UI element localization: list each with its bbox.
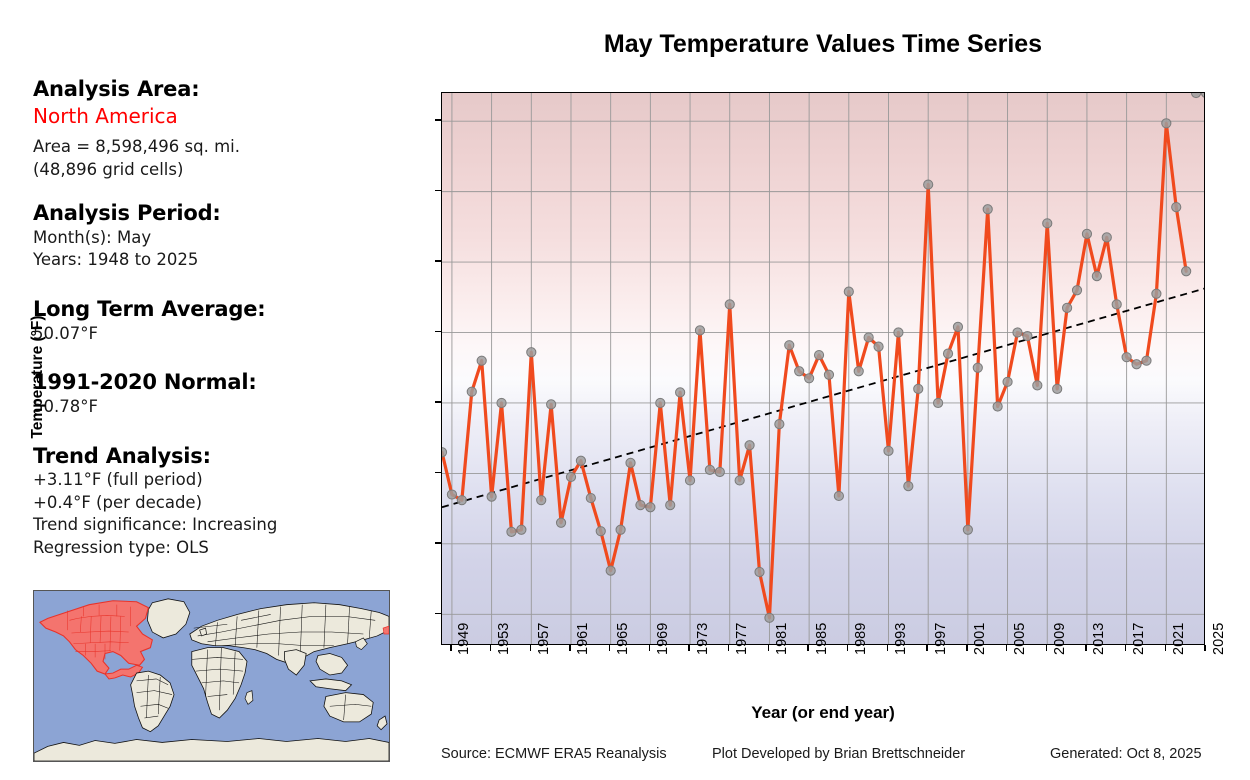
x-tick-mark (966, 645, 967, 651)
data-point (547, 400, 556, 409)
x-tick-mark (887, 645, 888, 651)
data-point (616, 525, 625, 534)
data-point (973, 363, 982, 372)
x-tick-mark (649, 645, 650, 651)
data-point (477, 356, 486, 365)
data-point (527, 348, 536, 357)
x-tick-label: 1993 (893, 623, 909, 655)
x-tick-label: 2005 (1012, 623, 1028, 655)
data-point (934, 398, 943, 407)
data-point-markers (442, 93, 1205, 622)
data-point (507, 527, 516, 536)
y-tick-mark (435, 331, 441, 332)
data-point (1072, 286, 1081, 295)
data-point (1112, 300, 1121, 309)
data-point (586, 493, 595, 502)
data-point (676, 388, 685, 397)
data-point (785, 341, 794, 350)
y-tick-mark (435, 260, 441, 261)
chart-title: May Temperature Values Time Series (441, 30, 1205, 59)
data-point (457, 496, 466, 505)
data-point (844, 287, 853, 296)
x-tick-mark (688, 645, 689, 651)
data-point (626, 458, 635, 467)
x-tick-label: 2001 (972, 623, 988, 655)
x-tick-mark (1006, 645, 1007, 651)
data-point (1062, 303, 1071, 312)
x-axis-label: Year (or end year) (441, 703, 1205, 723)
x-tick-label: 1961 (575, 623, 591, 655)
x-tick-mark (450, 645, 451, 651)
x-tick-mark (490, 645, 491, 651)
data-point (596, 527, 605, 536)
data-point (1132, 360, 1141, 369)
x-tick-label: 1965 (615, 623, 631, 655)
data-point (963, 525, 972, 534)
data-point (487, 492, 496, 501)
data-point (745, 441, 754, 450)
y-tick-mark (435, 401, 441, 402)
data-point (1182, 267, 1191, 276)
plot-svg (442, 93, 1205, 645)
x-tick-label: 2025 (1211, 623, 1227, 655)
data-point (725, 300, 734, 309)
data-point (1003, 377, 1012, 386)
data-point (576, 456, 585, 465)
data-point (1162, 119, 1171, 128)
data-point (1201, 93, 1205, 98)
y-tick-mark (435, 119, 441, 120)
data-point (517, 525, 526, 534)
data-point (1142, 356, 1151, 365)
data-point (566, 472, 575, 481)
data-point (646, 503, 655, 512)
x-tick-mark (569, 645, 570, 651)
x-tick-mark (609, 645, 610, 651)
x-tick-label: 1969 (655, 623, 671, 655)
data-point (755, 567, 764, 576)
plot-area (441, 92, 1205, 645)
data-point (705, 465, 714, 474)
data-point (606, 566, 615, 575)
data-point (924, 180, 933, 189)
x-tick-label: 1973 (695, 623, 711, 655)
time-series-chart: May Temperature Values Time Series Tempe… (0, 0, 1250, 780)
x-tick-mark (1204, 645, 1205, 651)
data-point (854, 367, 863, 376)
data-point (824, 370, 833, 379)
data-point (983, 205, 992, 214)
data-point (874, 342, 883, 351)
gridlines (442, 93, 1205, 645)
footer-generated: Generated: Oct 8, 2025 (1050, 746, 1202, 762)
y-tick-mark (435, 613, 441, 614)
data-point (1053, 384, 1062, 393)
x-tick-label: 1981 (774, 623, 790, 655)
data-point (695, 326, 704, 335)
x-tick-label: 2017 (1131, 623, 1147, 655)
x-tick-label: 1985 (814, 623, 830, 655)
data-point (1082, 229, 1091, 238)
x-tick-label: 2009 (1052, 623, 1068, 655)
data-point (447, 490, 456, 499)
data-point (1043, 219, 1052, 228)
data-point (636, 501, 645, 510)
x-tick-mark (1046, 645, 1047, 651)
data-point (442, 448, 447, 457)
data-point (904, 481, 913, 490)
x-tick-mark (847, 645, 848, 651)
x-tick-mark (1085, 645, 1086, 651)
data-point (735, 476, 744, 485)
data-point (666, 501, 675, 510)
y-axis-label: Temperature (°F) (29, 277, 47, 477)
x-tick-label: 2021 (1171, 623, 1187, 655)
y-tick-mark (435, 542, 441, 543)
x-tick-mark (1165, 645, 1166, 651)
data-point (556, 518, 565, 527)
data-point (894, 328, 903, 337)
data-point (1013, 328, 1022, 337)
data-point (1023, 331, 1032, 340)
data-point (765, 613, 774, 622)
x-tick-label: 1989 (853, 623, 869, 655)
data-point (537, 496, 546, 505)
x-tick-mark (768, 645, 769, 651)
data-point (775, 420, 784, 429)
data-point (943, 349, 952, 358)
data-point (497, 398, 506, 407)
y-tick-mark (435, 472, 441, 473)
data-point (953, 322, 962, 331)
footer-developer: Plot Developed by Brian Brettschneider (712, 746, 965, 762)
x-tick-label: 1997 (933, 623, 949, 655)
data-point (1033, 381, 1042, 390)
x-tick-label: 1977 (734, 623, 750, 655)
data-point (814, 350, 823, 359)
data-point (685, 476, 694, 485)
data-point (1102, 233, 1111, 242)
data-point (1122, 353, 1131, 362)
data-point (795, 367, 804, 376)
y-tick-mark (435, 190, 441, 191)
data-point (467, 387, 476, 396)
data-point (715, 467, 724, 476)
data-point (864, 333, 873, 342)
data-point (914, 384, 923, 393)
x-tick-label: 1957 (536, 623, 552, 655)
data-point (834, 491, 843, 500)
x-tick-mark (1125, 645, 1126, 651)
x-tick-label: 1953 (496, 623, 512, 655)
data-point (1092, 272, 1101, 281)
x-tick-mark (807, 645, 808, 651)
data-point (805, 374, 814, 383)
footer-source: Source: ECMWF ERA5 Reanalysis (441, 746, 667, 762)
data-point (884, 446, 893, 455)
data-point (1172, 203, 1181, 212)
x-tick-label: 1949 (456, 623, 472, 655)
data-point (1191, 93, 1200, 98)
x-tick-mark (728, 645, 729, 651)
x-tick-mark (530, 645, 531, 651)
x-tick-mark (926, 645, 927, 651)
data-point (993, 402, 1002, 411)
data-point (1152, 289, 1161, 298)
x-tick-label: 2013 (1091, 623, 1107, 655)
data-point (656, 398, 665, 407)
